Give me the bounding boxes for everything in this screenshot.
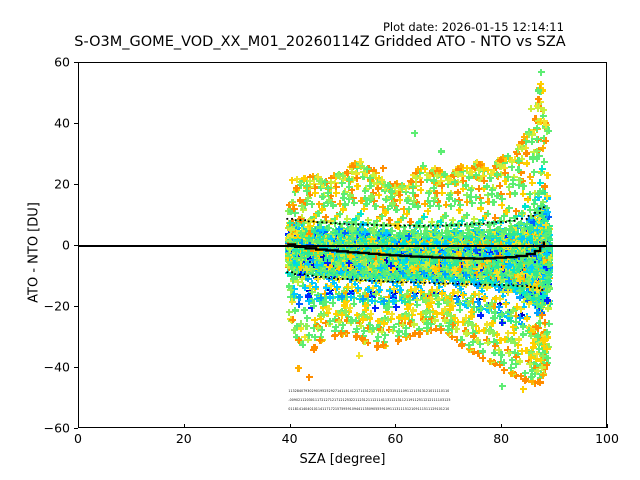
page-title: S-O3M_GOME_VOD_XX_M01_20260114Z Gridded … (0, 34, 640, 50)
figure: Plot date: 2026-01-15 12:14:11 S-O3M_GOM… (0, 0, 640, 480)
plot-axes: 1132840793029019525292714113141217113121… (78, 62, 607, 428)
plot-date-label: Plot date: 2026-01-15 12:14:11 (383, 20, 564, 34)
